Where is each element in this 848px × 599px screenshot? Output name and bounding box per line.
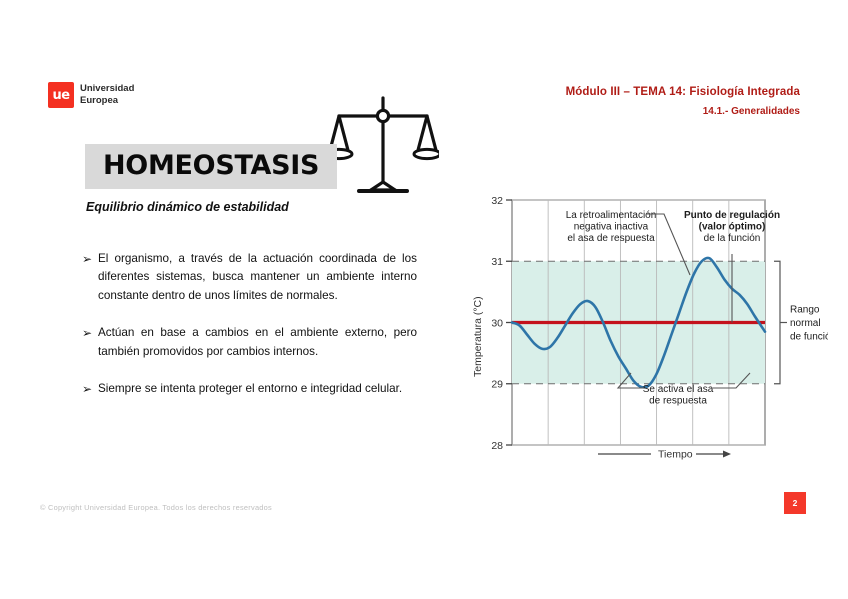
- annotation-normal-range-line: Rango: [790, 305, 820, 316]
- bullet-list: ➢ El organismo, a través de la actuación…: [82, 250, 417, 418]
- slide-header: Módulo III – TEMA 14: Fisiología Integra…: [566, 86, 800, 117]
- chart-y-axis-label: Temperatura (°C): [472, 296, 484, 377]
- annotation-negative-feedback-line: negativa inactiva: [574, 222, 649, 233]
- balance-scales-icon: [327, 94, 439, 194]
- chart-x-axis: Tiempo: [598, 449, 731, 461]
- annotation-negative-feedback-line: el asa de respuesta: [567, 233, 655, 244]
- annotation-response-loop-line: de respuesta: [649, 396, 707, 407]
- chart-x-axis-label: Tiempo: [658, 449, 693, 461]
- page-title: HOMEOSTASIS: [85, 144, 337, 189]
- annotation-setpoint-line: Punto de regulación: [684, 210, 780, 221]
- module-subtitle: 14.1.- Generalidades: [566, 106, 800, 117]
- slide-canvas: ue Universidad Europea Módulo III – TEMA…: [0, 0, 848, 599]
- footer-copyright: © Copyright Universidad Europea. Todos l…: [40, 503, 272, 512]
- annotation-setpoint-line: de la función: [704, 233, 761, 244]
- list-item-text: Siempre se intenta proteger el entorno e…: [98, 380, 417, 399]
- annotation-setpoint-line: (valor óptimo): [699, 222, 766, 233]
- annotation-normal-range: Rangonormalde función: [790, 305, 828, 343]
- homeostasis-chart: Temperatura (°C) 2829303132 La retroalim…: [468, 192, 828, 472]
- logo-line-2: Europea: [80, 95, 134, 107]
- chart-y-tick-label: 31: [491, 256, 503, 268]
- bullet-arrow-icon: ➢: [82, 250, 98, 305]
- annotation-normal-range-line: de función: [790, 332, 828, 343]
- page-number-badge: 2: [784, 492, 806, 514]
- university-logo: ue Universidad Europea: [48, 82, 134, 108]
- chart-y-tick-label: 30: [491, 317, 503, 329]
- list-item: ➢ El organismo, a través de la actuación…: [82, 250, 417, 305]
- list-item: ➢ Actúan en base a cambios en el ambient…: [82, 324, 417, 361]
- list-item-text: El organismo, a través de la actuación c…: [98, 250, 417, 305]
- page-subtitle: Equilibrio dinámico de estabilidad: [86, 200, 289, 214]
- logo-text: Universidad Europea: [80, 83, 134, 106]
- annotation-normal-range-line: normal: [790, 318, 821, 329]
- annotation-negative-feedback-line: La retroalimentación: [566, 210, 657, 221]
- annotation-range-bracket: [774, 261, 780, 384]
- list-item-text: Actúan en base a cambios en el ambiente …: [98, 324, 417, 361]
- list-item: ➢ Siempre se intenta proteger el entorno…: [82, 380, 417, 399]
- logo-line-1: Universidad: [80, 83, 134, 95]
- annotation-response-loop-line: Se activa el asa: [643, 384, 714, 395]
- annotation-negative-feedback: La retroalimentaciónnegativa inactivael …: [566, 210, 657, 244]
- chart-y-tick-label: 29: [491, 379, 503, 391]
- page-title-text: HOMEOSTASIS: [103, 150, 319, 181]
- ue-logo-mark: ue: [48, 82, 74, 108]
- bullet-arrow-icon: ➢: [82, 324, 98, 361]
- chart-y-tick-label: 32: [491, 195, 503, 207]
- bullet-arrow-icon: ➢: [82, 380, 98, 399]
- chart-y-tick-label: 28: [491, 440, 503, 452]
- module-title: Módulo III – TEMA 14: Fisiología Integra…: [566, 86, 800, 98]
- annotation-response-loop: Se activa el asade respuesta: [643, 384, 714, 407]
